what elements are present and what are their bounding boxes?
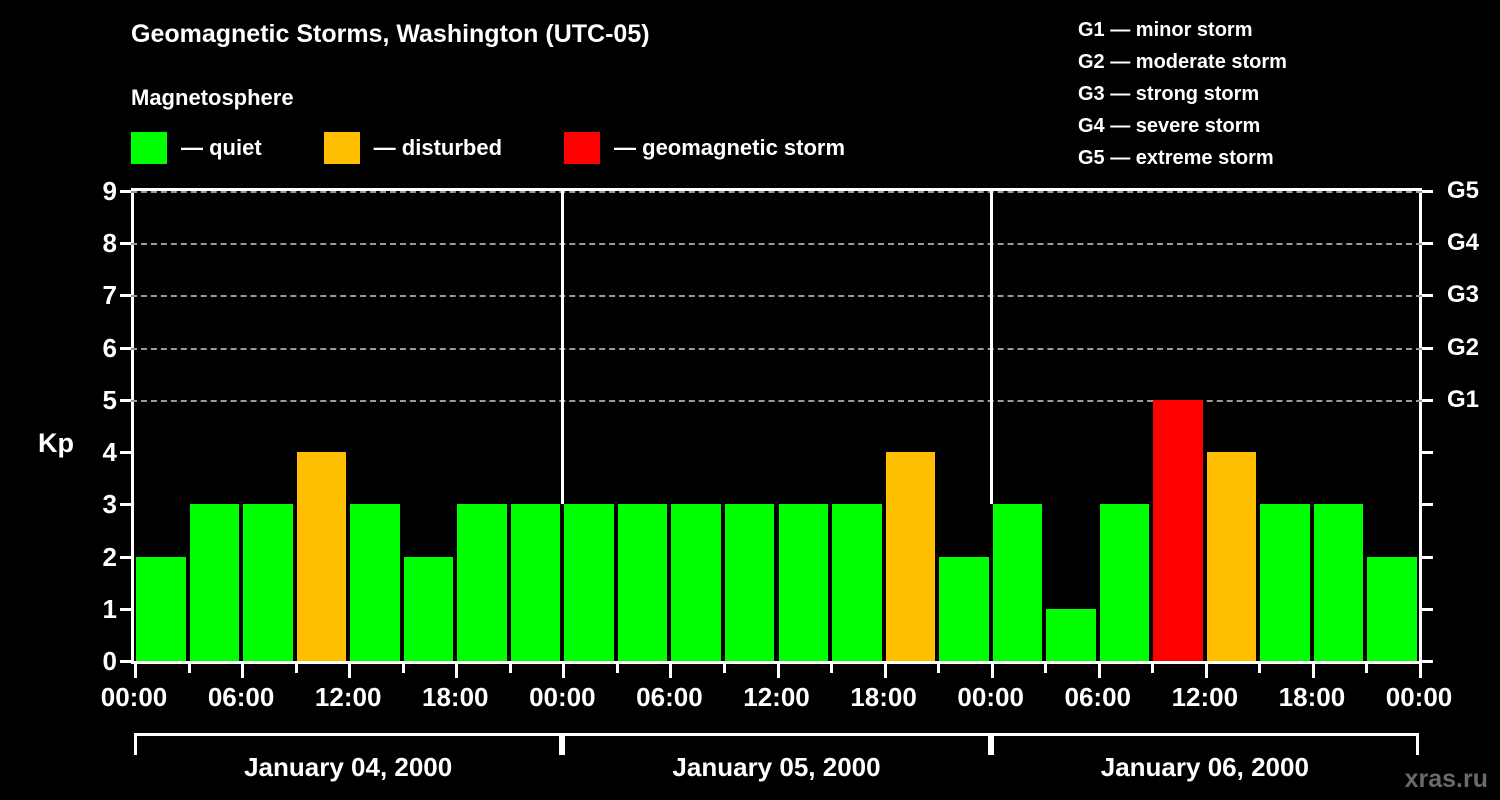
x-axis-tick-label: 18:00 [1279, 682, 1346, 713]
watermark: xras.ru [1405, 765, 1488, 794]
legend-label-disturbed: — disturbed [374, 135, 502, 161]
g-scale-line-g1: G1 — minor storm [1078, 14, 1287, 46]
legend-item-storm: — geomagnetic storm [564, 132, 845, 164]
x-axis-tick-label: 00:00 [957, 682, 1024, 713]
x-axis-tick-minor [509, 664, 512, 673]
x-axis-tick-label: 12:00 [1172, 682, 1239, 713]
day-label: January 04, 2000 [244, 752, 452, 783]
y-axis-tick [120, 190, 131, 193]
x-axis-tick-minor [402, 664, 405, 673]
y-axis-tick [1422, 503, 1433, 506]
y-axis-tick [1422, 242, 1433, 245]
g-scale-line-g5: G5 — extreme storm [1078, 142, 1287, 174]
x-axis-tick-major [669, 664, 672, 678]
x-axis-tick-major [348, 664, 351, 678]
y-axis-title: Kp [38, 428, 74, 459]
x-axis-tick-minor [616, 664, 619, 673]
bar [1314, 504, 1364, 661]
bar [886, 452, 936, 661]
bar [404, 557, 454, 661]
x-axis-tick-major [777, 664, 780, 678]
bar [1046, 609, 1096, 661]
x-axis-tick-major [884, 664, 887, 678]
x-axis-tick-major [1419, 664, 1422, 678]
x-axis-labels: 00:0006:0012:0018:0000:0006:0012:0018:00… [0, 682, 1500, 716]
legend-item-disturbed: — disturbed [324, 132, 502, 164]
y-axis-tick [120, 503, 131, 506]
bar [1260, 504, 1310, 661]
y-axis-tick [1422, 294, 1433, 297]
bar [564, 504, 614, 661]
y-axis-tick [120, 556, 131, 559]
bar [297, 452, 347, 661]
y-axis-tick [1422, 608, 1433, 611]
x-axis-tick-label: 06:00 [1065, 682, 1132, 713]
bar [136, 557, 186, 661]
x-axis-tick-major [455, 664, 458, 678]
bar [190, 504, 240, 661]
g-scale-legend: G1 — minor storm G2 — moderate storm G3 … [1078, 14, 1287, 174]
activity-legend: — quiet — disturbed — geomagnetic storm [131, 132, 845, 164]
x-axis-tick-major [1312, 664, 1315, 678]
plot-area [131, 188, 1422, 664]
orange-square-icon [324, 132, 360, 164]
bar [1207, 452, 1257, 661]
bar-series [131, 188, 1422, 661]
bar [725, 504, 775, 661]
y-axis-tick [1422, 556, 1433, 559]
x-axis-tick-major [134, 664, 137, 678]
x-axis-tick-label: 00:00 [101, 682, 168, 713]
y-axis-tick [1422, 399, 1433, 402]
page-title: Geomagnetic Storms, Washington (UTC-05) [131, 20, 650, 49]
bar [243, 504, 293, 661]
bar [350, 504, 400, 661]
day-label: January 05, 2000 [672, 752, 880, 783]
bar [1153, 400, 1203, 661]
red-square-icon [564, 132, 600, 164]
x-axis-tick-major [1098, 664, 1101, 678]
bar [457, 504, 507, 661]
y-axis-tick [1422, 190, 1433, 193]
bar [939, 557, 989, 661]
y-axis-tick [120, 347, 131, 350]
legend-label-storm: — geomagnetic storm [614, 135, 845, 161]
x-axis-tick-minor [1258, 664, 1261, 673]
x-axis-tick-label: 12:00 [315, 682, 382, 713]
legend-item-quiet: — quiet [131, 132, 262, 164]
bar [832, 504, 882, 661]
x-axis-tick-major [562, 664, 565, 678]
x-axis-ticks [131, 664, 1422, 678]
bar [671, 504, 721, 661]
bar [511, 504, 561, 661]
x-axis-tick-minor [295, 664, 298, 673]
x-axis-tick-label: 18:00 [850, 682, 917, 713]
bar [1100, 504, 1150, 661]
x-axis-tick-major [1205, 664, 1208, 678]
bar [779, 504, 829, 661]
x-axis-tick-minor [188, 664, 191, 673]
y-axis-tick [1422, 660, 1433, 663]
y-axis-tick [120, 608, 131, 611]
day-labels: January 04, 2000January 05, 2000January … [131, 752, 1422, 792]
x-axis-tick-label: 00:00 [529, 682, 596, 713]
y-axis-tick [120, 242, 131, 245]
y-axis-tick [120, 399, 131, 402]
chart-root: Geomagnetic Storms, Washington (UTC-05) … [0, 0, 1500, 800]
y-axis-tick [1422, 347, 1433, 350]
x-axis-tick-minor [1151, 664, 1154, 673]
x-axis-tick-major [991, 664, 994, 678]
legend-label-quiet: — quiet [181, 135, 262, 161]
y-axis-tick [120, 451, 131, 454]
x-axis-tick-label: 18:00 [422, 682, 489, 713]
x-axis-tick-minor [937, 664, 940, 673]
x-axis-tick-minor [1044, 664, 1047, 673]
y-axis-tick [120, 660, 131, 663]
x-axis-tick-label: 00:00 [1386, 682, 1453, 713]
g-scale-line-g3: G3 — strong storm [1078, 78, 1287, 110]
x-axis-tick-label: 12:00 [743, 682, 810, 713]
x-axis-tick-major [241, 664, 244, 678]
y-axis-tick [1422, 451, 1433, 454]
bar [618, 504, 668, 661]
chart-subtitle: Magnetosphere [131, 85, 294, 111]
bar [993, 504, 1043, 661]
x-axis-tick-minor [723, 664, 726, 673]
x-axis-tick-label: 06:00 [636, 682, 703, 713]
bar [1367, 557, 1417, 661]
y-axis-tick [120, 294, 131, 297]
green-square-icon [131, 132, 167, 164]
day-label: January 06, 2000 [1101, 752, 1309, 783]
g-scale-line-g4: G4 — severe storm [1078, 110, 1287, 142]
x-axis-tick-minor [1365, 664, 1368, 673]
x-axis-tick-label: 06:00 [208, 682, 275, 713]
g-scale-line-g2: G2 — moderate storm [1078, 46, 1287, 78]
x-axis-tick-minor [830, 664, 833, 673]
